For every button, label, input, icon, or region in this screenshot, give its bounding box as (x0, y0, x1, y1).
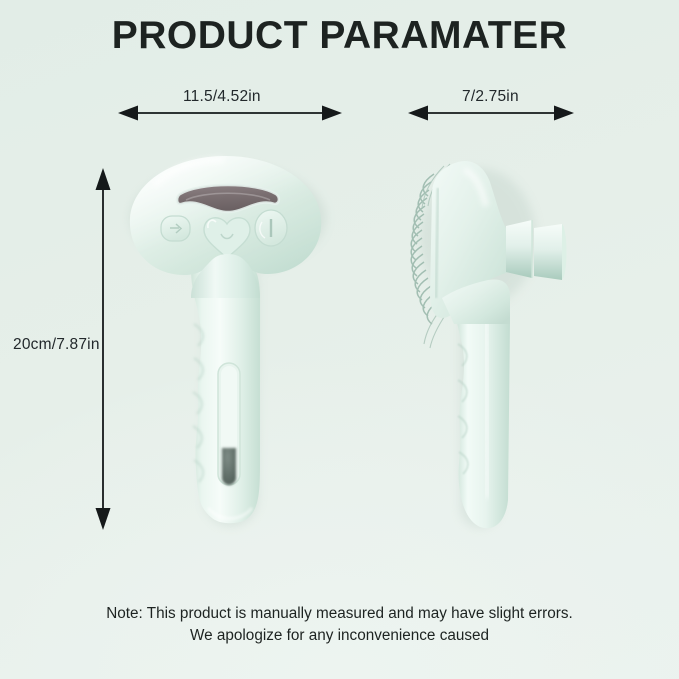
product-side-view-illustration (398, 148, 598, 548)
head-edge-shade (436, 188, 438, 298)
note-text: Note: This product is manually measured … (0, 603, 679, 647)
dimension-arrow-height (92, 168, 114, 530)
note-line-2: We apologize for any inconvenience cause… (0, 625, 679, 647)
handle-highlight (486, 318, 488, 498)
page-title: PRODUCT PARAMATER (0, 14, 679, 58)
product-parameter-image: PRODUCT PARAMATER (0, 0, 679, 679)
nozzle-connector (506, 220, 567, 280)
product-front-view-illustration (108, 148, 338, 548)
dimension-arrow-width-right (408, 102, 574, 124)
handle-slot (218, 363, 240, 485)
dimension-arrow-width-left (118, 102, 342, 124)
mode-button[interactable] (161, 216, 190, 241)
power-button[interactable] (255, 210, 287, 246)
note-line-1: Note: This product is manually measured … (0, 603, 679, 625)
dimension-label-height: 20cm/7.87in (13, 336, 100, 354)
